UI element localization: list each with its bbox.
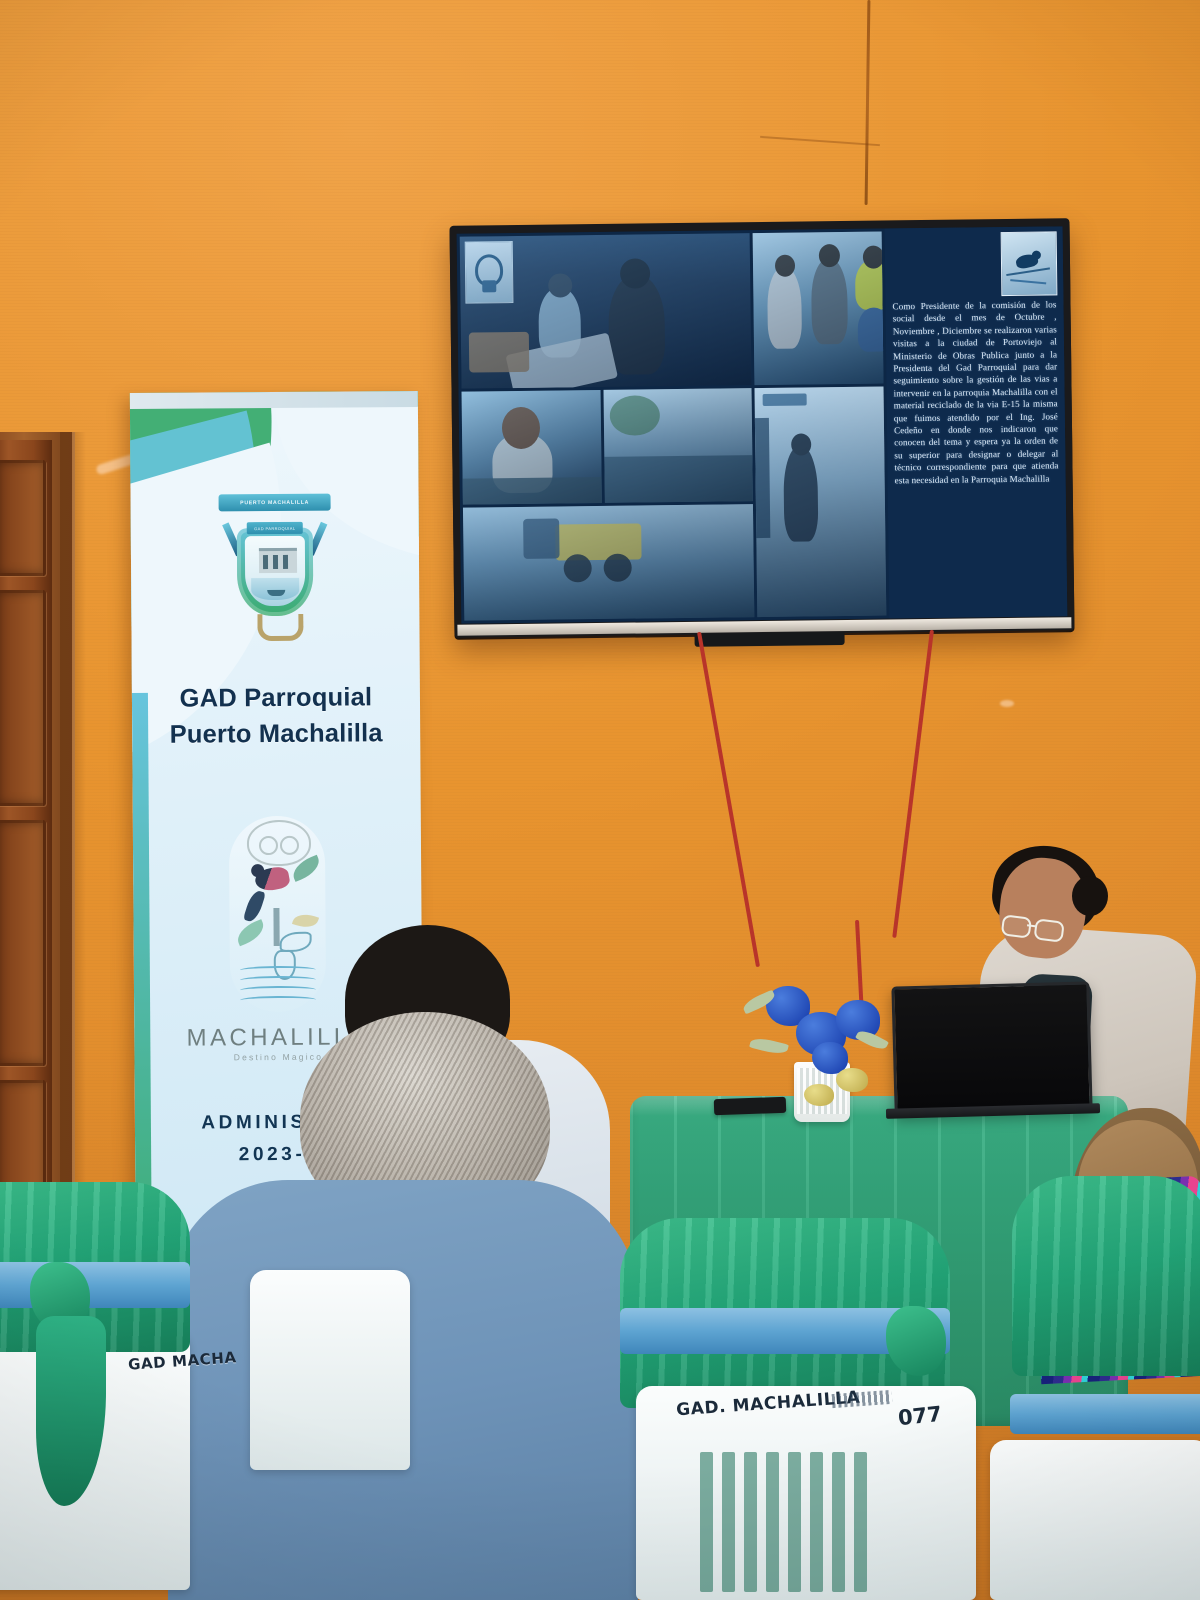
figure xyxy=(767,267,802,349)
emblem-base xyxy=(257,614,303,641)
emblem-ribbon-top-text: PUERTO MACHALILLA xyxy=(240,499,309,505)
banner-title-line1: GAD Parroquial xyxy=(132,679,420,717)
chair-sash xyxy=(0,1262,190,1308)
figure-head xyxy=(791,434,811,456)
emblem-ribbon-bottom: GAD PARROQUIAL xyxy=(247,522,303,534)
owl-face-icon xyxy=(247,820,311,866)
figure-head xyxy=(819,244,840,267)
presentation-slide: Como Presidente de la comisión de los so… xyxy=(457,226,1068,623)
vegetation xyxy=(610,396,660,437)
chair-number: 077 xyxy=(897,1402,943,1430)
banner-top-rail xyxy=(130,391,418,409)
meeting-room-photo: Como Presidente de la comisión de los so… xyxy=(0,0,1200,1600)
slide-paragraph: Como Presidente de la comisión de los so… xyxy=(892,298,1058,486)
wheel xyxy=(564,554,592,582)
presenter-hair-bun xyxy=(1072,876,1108,916)
figure-legs xyxy=(858,307,884,351)
slide-photo-pasillo-oficina xyxy=(755,387,887,617)
machalilla-logo-icon xyxy=(229,816,326,1013)
machinery-body xyxy=(555,524,641,561)
wall-mounted-television: Como Presidente de la comisión de los so… xyxy=(450,218,1075,638)
wooden-door[interactable] xyxy=(0,440,52,1278)
desk xyxy=(469,332,529,373)
figure xyxy=(492,433,553,494)
chair-back-slats xyxy=(700,1452,867,1592)
chair-seat[interactable] xyxy=(250,1270,410,1470)
wall-scuff-mark-small xyxy=(1000,700,1014,707)
arrow-shape xyxy=(273,908,279,946)
chair-seat[interactable] xyxy=(990,1440,1200,1600)
slide-photo-maquinaria-vial xyxy=(463,504,755,620)
shield-field xyxy=(245,536,305,606)
figure xyxy=(783,446,818,542)
chair-sash xyxy=(1010,1394,1200,1434)
emblem-ribbon-top: PUERTO MACHALILLA xyxy=(219,494,331,512)
coat-of-arms-icon: PUERTO MACHALILLA GAD PARROQUIAL xyxy=(214,488,335,639)
slide-photo-grupo-tres-personas xyxy=(753,232,884,386)
figure-head xyxy=(548,273,572,297)
figure xyxy=(538,287,581,358)
sign xyxy=(763,394,807,407)
figure-head xyxy=(775,255,795,277)
wheel xyxy=(604,554,632,582)
machalilla-bird-icon xyxy=(1001,231,1058,296)
door-panel xyxy=(0,590,46,806)
yellow-flower xyxy=(836,1068,868,1092)
machinery-cab xyxy=(523,519,559,559)
laptop-screen[interactable] xyxy=(891,981,1092,1114)
building xyxy=(259,548,297,573)
branch xyxy=(1010,279,1046,284)
banner-title-line2: Puerto Machalilla xyxy=(132,715,420,753)
road xyxy=(463,477,602,505)
slide-photo-via-asfaltada xyxy=(604,388,753,503)
slide-photo-tecnico-en-via xyxy=(462,390,602,505)
waves-icon xyxy=(240,966,316,1007)
slide-text-panel: Como Presidente de la comisión de los so… xyxy=(885,226,1068,618)
emblem-ribbon-bottom-text: GAD PARROQUIAL xyxy=(254,525,295,530)
figure xyxy=(811,258,848,344)
bird-head xyxy=(1032,251,1041,260)
chair-cover xyxy=(1012,1176,1200,1376)
banner-title: GAD Parroquial Puerto Machalilla xyxy=(132,679,420,753)
yellow-flower xyxy=(804,1084,834,1106)
figure-head xyxy=(502,407,541,449)
door-panel xyxy=(0,460,46,576)
door-frame xyxy=(755,418,770,538)
documents xyxy=(505,332,618,389)
door-shadow xyxy=(60,432,86,1282)
figure-head xyxy=(620,258,650,288)
tv-mount xyxy=(695,632,845,647)
tv-screen: Como Presidente de la comisión de los so… xyxy=(457,226,1068,623)
shield xyxy=(237,528,314,617)
figure xyxy=(608,274,665,375)
door-panel xyxy=(0,820,46,1066)
slide-photo-reunion-oficina xyxy=(460,233,752,389)
road xyxy=(604,455,753,503)
mobile-phone[interactable] xyxy=(714,1097,787,1116)
figure-head xyxy=(863,245,883,268)
figure xyxy=(855,259,883,309)
emblema-parroquial-icon xyxy=(465,241,514,304)
slide-photo-grid xyxy=(457,228,890,623)
branch xyxy=(1006,267,1050,276)
